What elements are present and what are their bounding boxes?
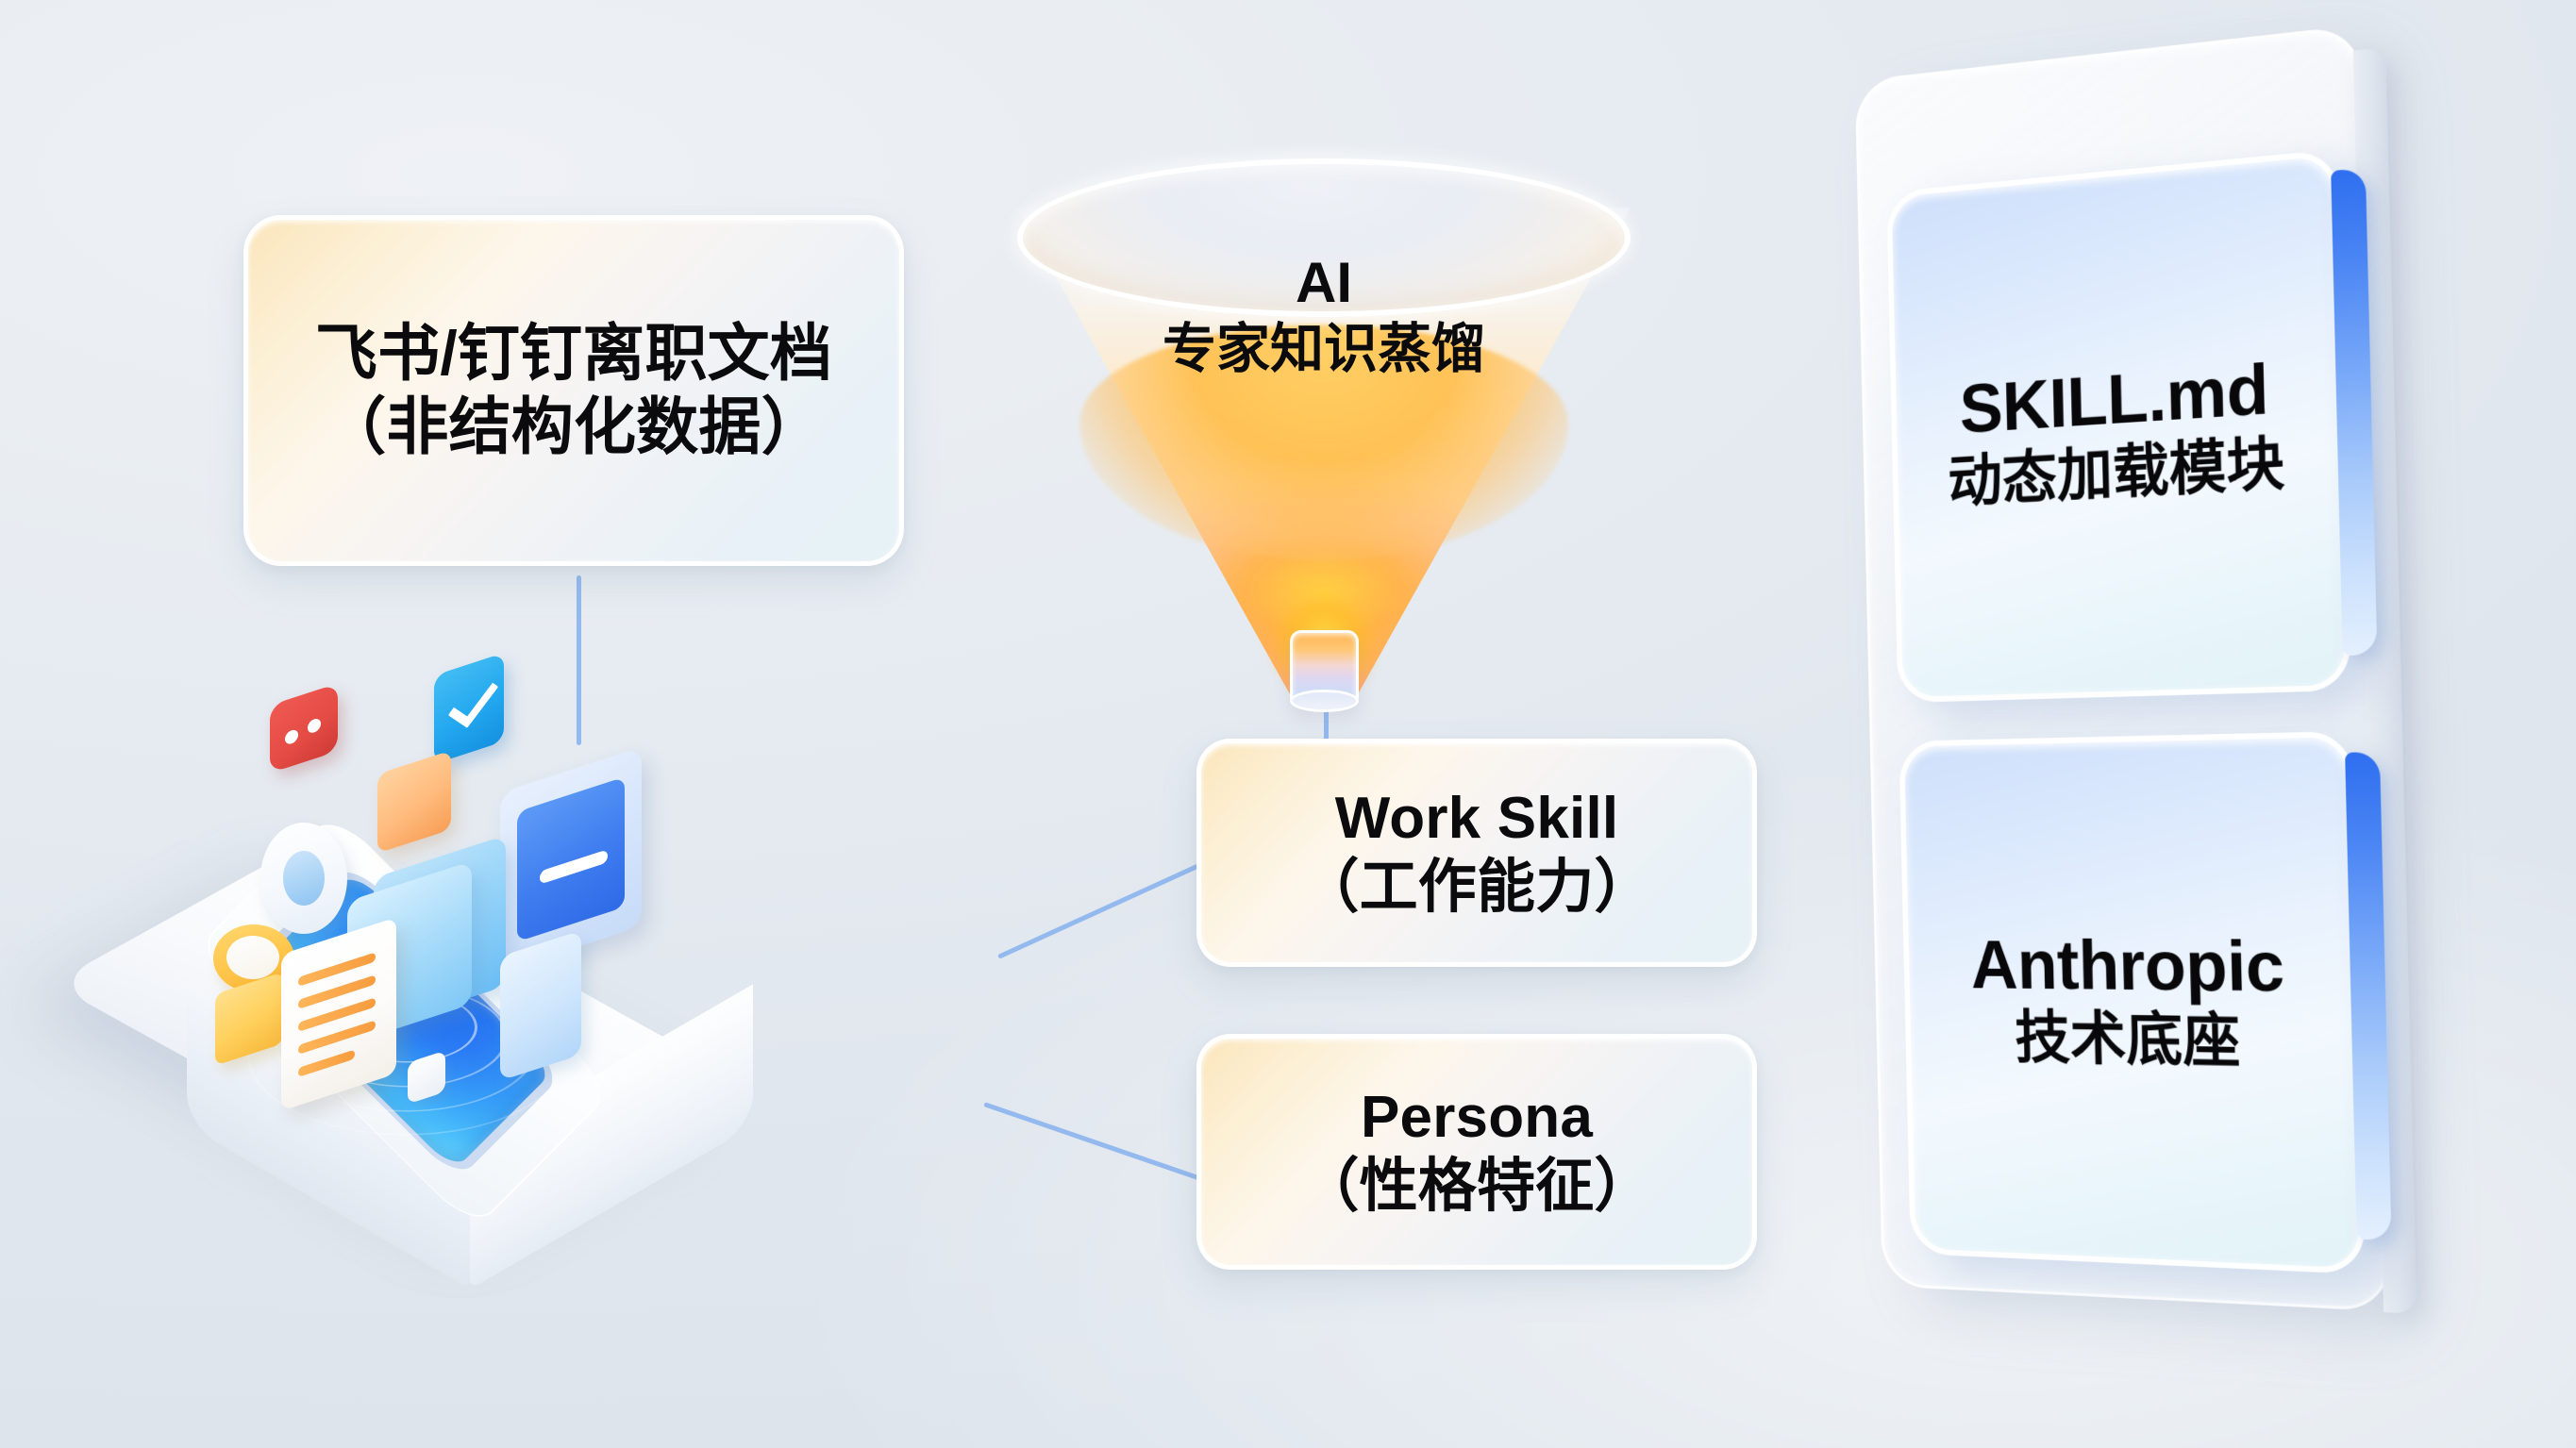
source-card-line1: 飞书/钉钉离职文档 [315, 317, 832, 391]
work-skill-line1: Work Skill [1335, 784, 1619, 853]
checkmark-card-icon [434, 653, 504, 764]
output-card-persona[interactable]: Persona （性格特征） [1196, 1034, 1757, 1270]
platform-panel: SKILL.md 动态加载模块 Anthropic 技术底座 [1849, 49, 2434, 1379]
anthropic-line2: 技术底座 [2015, 1005, 2241, 1076]
persona-line1: Persona [1361, 1083, 1593, 1152]
funnel-spout [1290, 630, 1359, 709]
source-card-line2: （非结构化数据） [324, 391, 824, 464]
ai-distillation-funnel[interactable]: AI 专家知识蒸馏 [1017, 158, 1631, 724]
diagram-canvas: 飞书/钉钉离职文档 （非结构化数据） AI 专家知识蒸馏 [0, 0, 2576, 1448]
data-pool-illustration[interactable] [104, 700, 1066, 1304]
work-skill-line2: （工作能力） [1300, 853, 1652, 922]
source-document-card[interactable]: 飞书/钉钉离职文档 （非结构化数据） [243, 215, 904, 566]
oval-ring-icon [260, 823, 347, 934]
orange-card-icon [377, 750, 451, 853]
funnel-label-line1: AI [1017, 249, 1631, 317]
persona-line2: （性格特征） [1300, 1152, 1652, 1221]
output-card-work-skill[interactable]: Work Skill （工作能力） [1196, 739, 1757, 967]
funnel-label: AI 专家知识蒸馏 [1017, 249, 1631, 381]
funnel-label-line2: 专家知识蒸馏 [1017, 317, 1631, 381]
blue-sheet-icon [500, 930, 581, 1081]
chat-bubble-icon [270, 683, 338, 773]
